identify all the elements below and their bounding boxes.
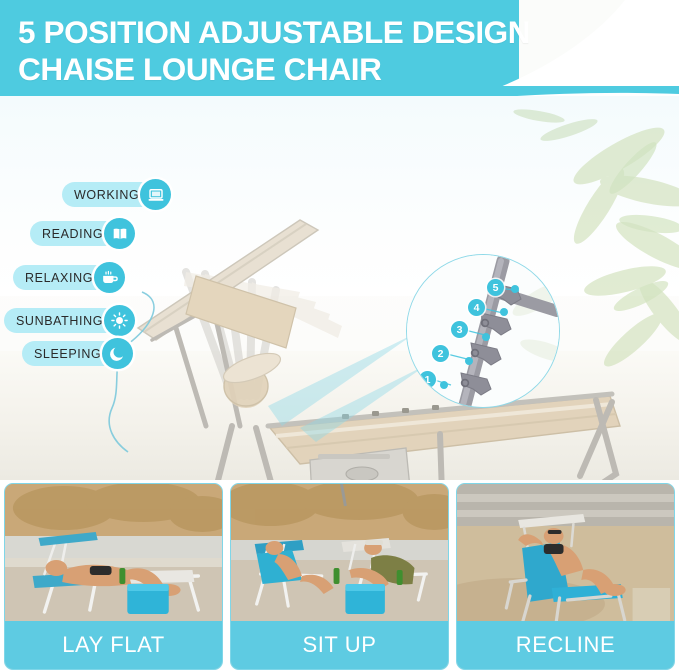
use-label-text: SLEEPING bbox=[34, 347, 101, 361]
position-badge-1: 1 bbox=[419, 371, 436, 388]
panel-caption: SIT UP bbox=[231, 621, 448, 669]
page-title: 5 POSITION ADJUSTABLE DESIGN CHAISE LOUN… bbox=[18, 14, 638, 88]
book-icon bbox=[104, 218, 135, 249]
position-dot-4 bbox=[500, 308, 508, 316]
panel-sit-up[interactable]: SIT UP bbox=[230, 483, 449, 670]
use-label-relaxing[interactable]: RELAXING bbox=[13, 265, 123, 290]
use-label-working[interactable]: WORKING bbox=[62, 182, 169, 207]
position-dot-5 bbox=[511, 285, 519, 293]
panel-lay-flat[interactable]: LAY FLAT bbox=[4, 483, 223, 670]
use-label-sunbathing[interactable]: SUNBATHING bbox=[4, 308, 133, 333]
use-label-text: SUNBATHING bbox=[16, 314, 103, 328]
hero-scene: WORKING READING bbox=[0, 96, 679, 480]
panel-recline[interactable]: RECLINE bbox=[456, 483, 675, 670]
position-dot-2 bbox=[465, 357, 473, 365]
svg-text:z: z bbox=[120, 350, 123, 356]
position-dot-1 bbox=[440, 381, 448, 389]
position-detail-circle: 1 2 3 4 5 bbox=[406, 254, 560, 408]
panel-caption: RECLINE bbox=[457, 621, 674, 669]
position-dot-3 bbox=[482, 333, 490, 341]
panel-photo bbox=[231, 484, 448, 623]
position-badge-4: 4 bbox=[468, 299, 485, 316]
coffee-icon bbox=[94, 262, 125, 293]
use-label-text: WORKING bbox=[74, 188, 139, 202]
panel-caption: LAY FLAT bbox=[5, 621, 222, 669]
position-badge-5: 5 bbox=[487, 279, 504, 296]
position-badge-2: 2 bbox=[432, 345, 449, 362]
panel-photo bbox=[457, 484, 674, 623]
position-panels: LAY FLAT bbox=[0, 483, 679, 670]
panel-photo bbox=[5, 484, 222, 623]
use-label-text: READING bbox=[42, 227, 103, 241]
sun-icon bbox=[104, 305, 135, 336]
use-label-sleeping[interactable]: SLEEPING z bbox=[22, 341, 131, 366]
position-badge-3: 3 bbox=[451, 321, 468, 338]
use-label-text: RELAXING bbox=[25, 271, 93, 285]
use-label-reading[interactable]: READING bbox=[30, 221, 133, 246]
product-infographic: 5 POSITION ADJUSTABLE DESIGN CHAISE LOUN… bbox=[0, 0, 679, 670]
